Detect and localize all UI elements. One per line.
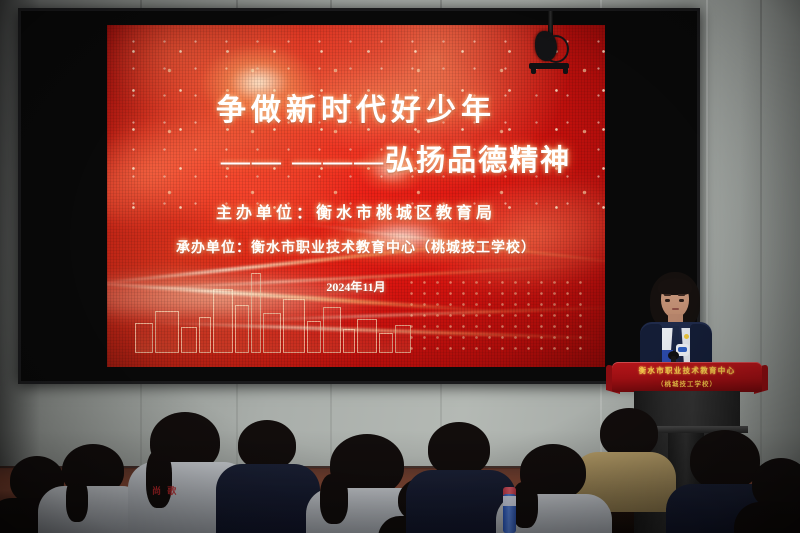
led-screen[interactable]: 争做新时代好少年 —— ———弘扬品德精神 主办单位：衡水市桃城区教育局 承办单… [18, 8, 700, 384]
audience-head [600, 408, 658, 458]
audience-ponytail [146, 450, 172, 508]
led-pixel-texture [107, 25, 605, 367]
audience-head [238, 420, 296, 470]
audience: 尚 歌 [0, 400, 800, 533]
audience-body [216, 464, 320, 533]
audience-ponytail [66, 478, 88, 522]
podium-sign-line1: 衡水市职业技术教育中心 [612, 365, 762, 376]
assembly-hall-photo: 争做新时代好少年 —— ———弘扬品德精神 主办单位：衡水市桃城区教育局 承办单… [0, 0, 800, 533]
spotlight-icon [529, 31, 569, 75]
audience-body [734, 502, 800, 533]
podium-sign-line2: （桃城技工学校） [612, 378, 762, 388]
audience-head [690, 430, 760, 490]
banner-title-line1: 争做新时代好少年 [107, 85, 605, 129]
banner-host-label: 主办单位：衡水市桃城区教育局 [107, 199, 605, 223]
banner-organizer-label: 承办单位：衡水市职业技术教育中心（桃城技工学校） [107, 237, 605, 257]
banner-date-label: 2024年11月 [107, 278, 605, 295]
uniform-text: 尚 歌 [152, 484, 178, 497]
audience-head [428, 422, 490, 476]
water-bottle-label [503, 496, 516, 506]
audience-ponytail [320, 474, 348, 524]
banner-title-line2: —— ———弘扬品德精神 [107, 137, 605, 179]
uniform-badge-icon [684, 334, 689, 339]
speaker-fringe [658, 278, 692, 295]
led-screen-surface: 争做新时代好少年 —— ———弘扬品德精神 主办单位：衡水市桃城区教育局 承办单… [21, 11, 697, 381]
event-banner: 争做新时代好少年 —— ———弘扬品德精神 主办单位：衡水市桃城区教育局 承办单… [107, 25, 605, 367]
school-emblem-icon [678, 347, 687, 352]
